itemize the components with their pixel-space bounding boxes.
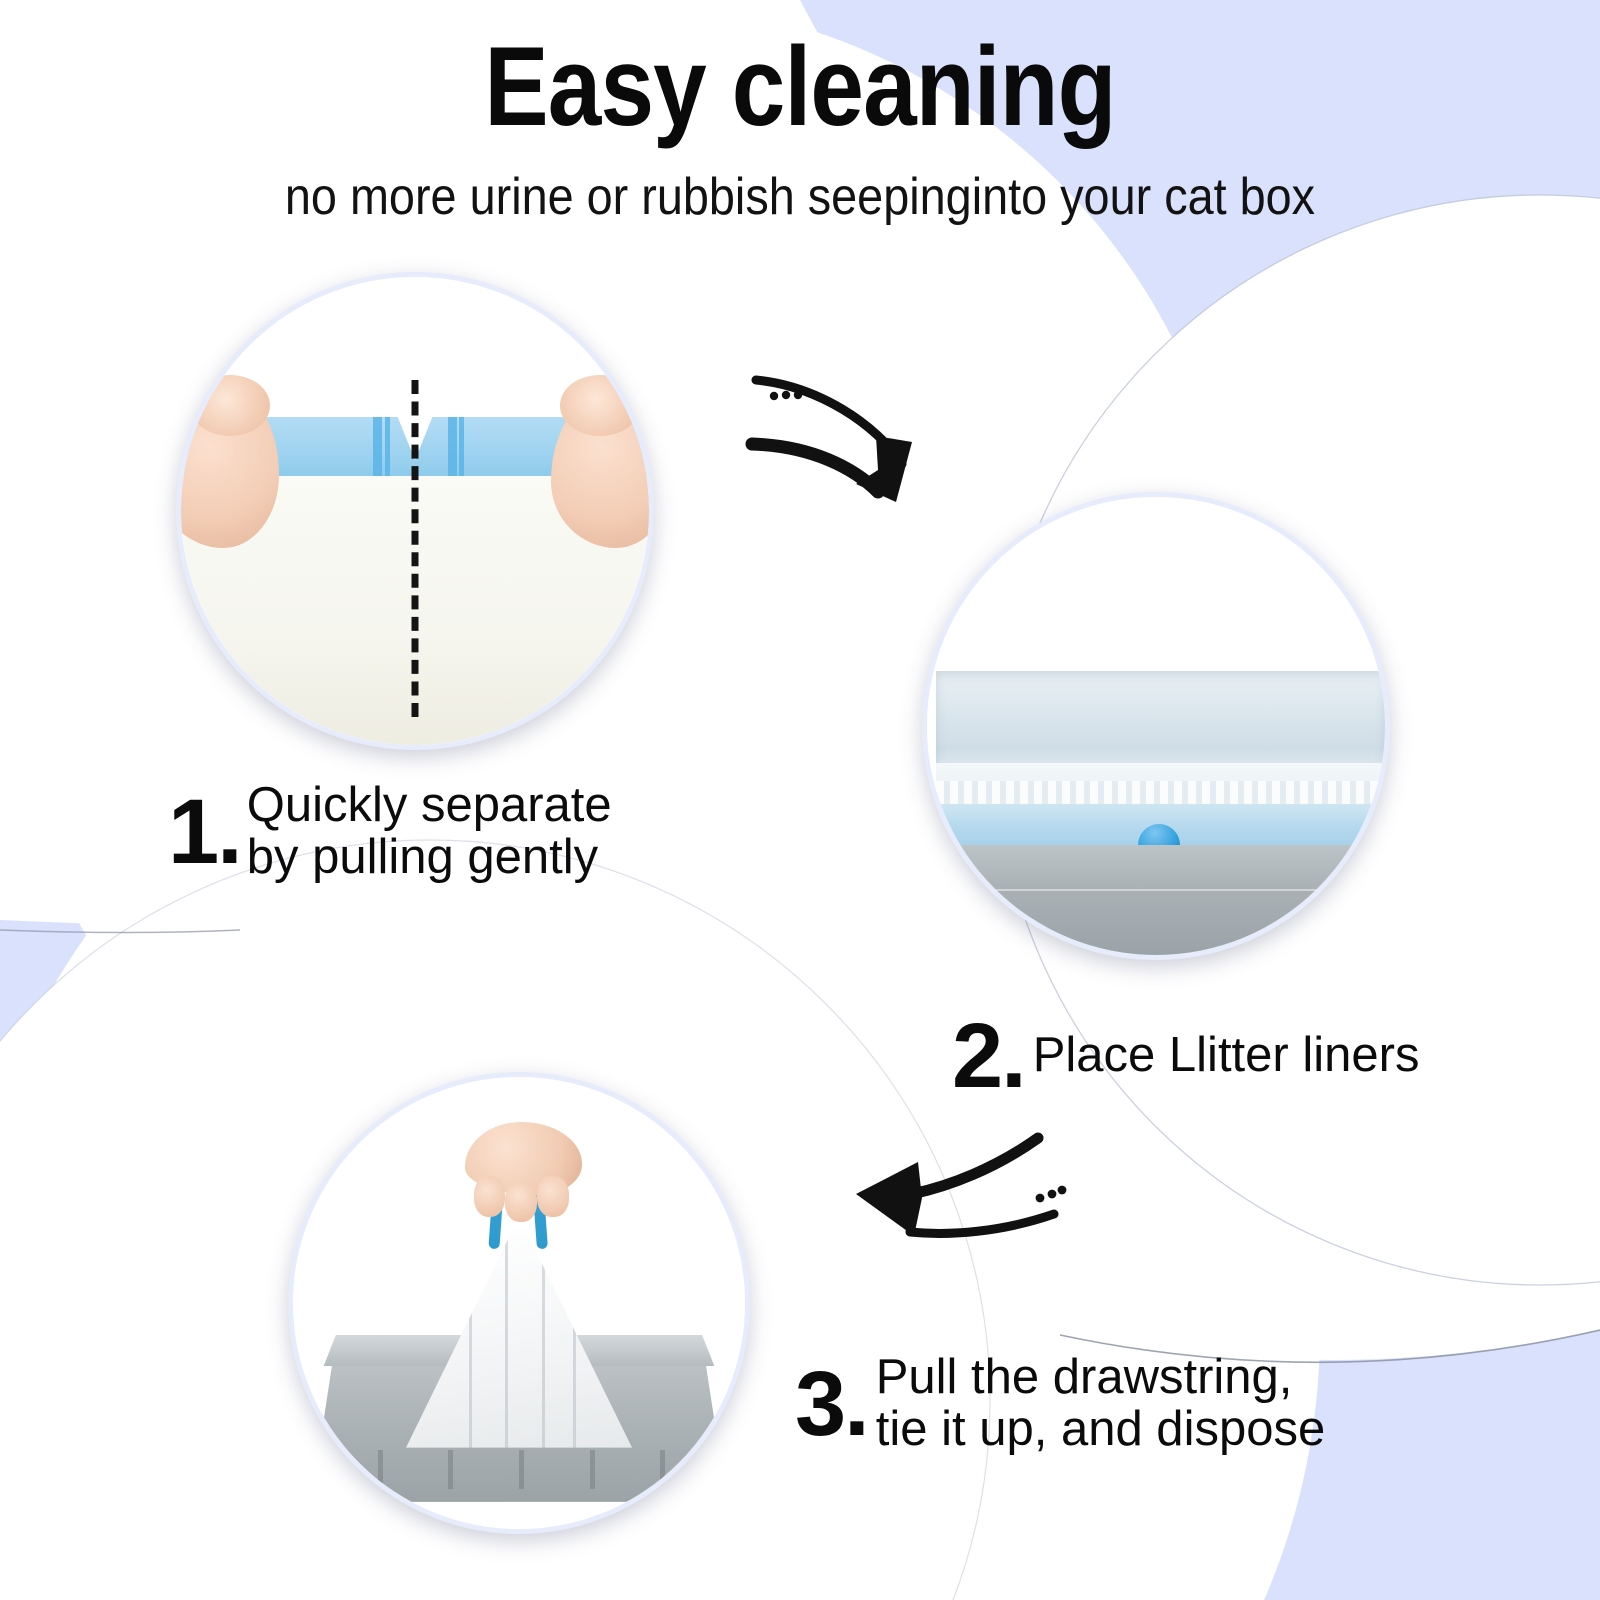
header: Easy cleaning no more urine or rubbish s… [0,0,1600,226]
step-1-caption: 1. Quickly separate by pulling gently [168,780,612,884]
step-1-line-2: by pulling gently [247,832,612,884]
step-2-text: Place Llitter liners [1033,1030,1420,1082]
infographic-canvas: Easy cleaning no more urine or rubbish s… [0,0,1600,1600]
step-3-caption: 3. Pull the drawstring, tie it up, and d… [795,1352,1325,1456]
step-2-number: 2. [952,1014,1025,1099]
step-3-number: 3. [795,1362,868,1447]
step-3-line-2: tie it up, and dispose [876,1404,1325,1456]
arrow-step2-to-step3 [826,1124,1068,1290]
step-2-line-1: Place Llitter liners [1033,1028,1420,1082]
step-1-text: Quickly separate by pulling gently [247,780,612,884]
page-subtitle: no more urine or rubbish seepinginto you… [80,169,1520,226]
step-3-line-1: Pull the drawstring, [876,1350,1293,1404]
arrow-step1-to-step2 [726,352,936,524]
step-3-photo [288,1072,750,1534]
page-title: Easy cleaning [112,28,1488,147]
step-2-photo [922,492,1390,960]
step-1-number: 1. [168,790,241,875]
step-1-line-1: Quickly separate [247,778,612,832]
step-2-caption: 2. Place Llitter liners [952,1014,1419,1099]
step-1-photo [176,272,654,750]
step-3-text: Pull the drawstring, tie it up, and disp… [876,1352,1325,1456]
separation-dashed-line [412,380,419,717]
